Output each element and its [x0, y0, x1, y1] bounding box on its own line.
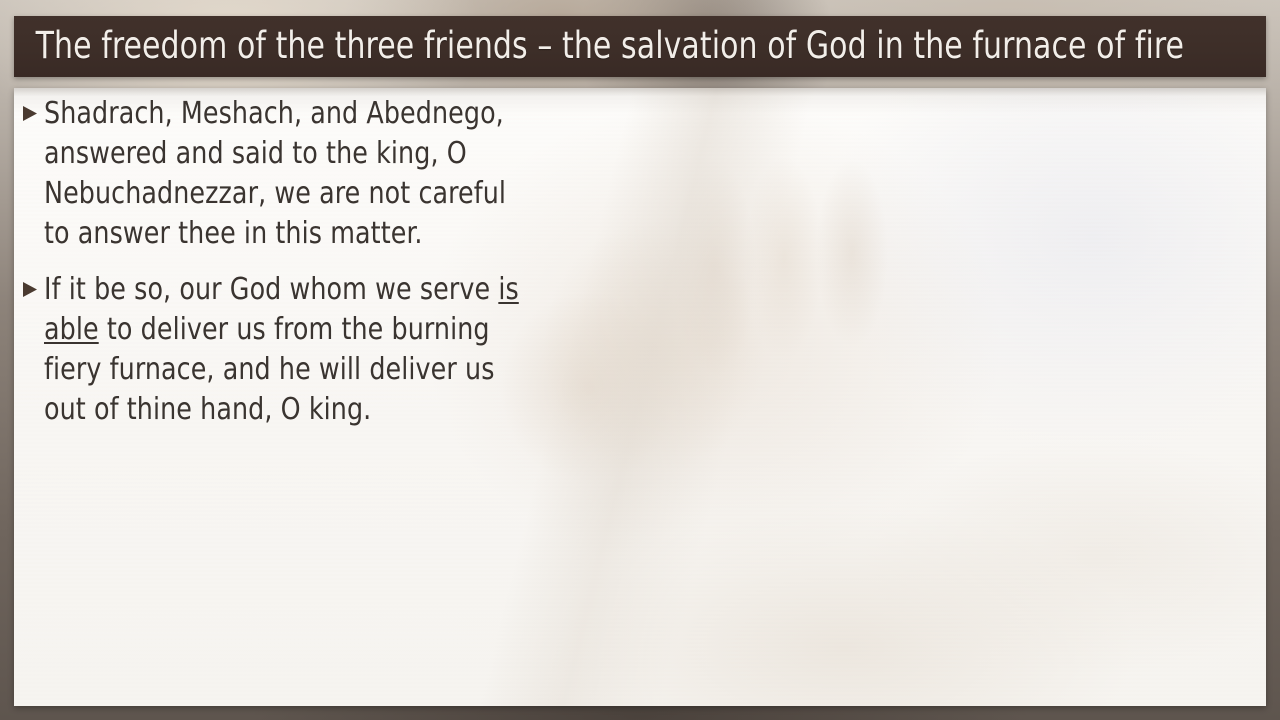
slide-body-text: Shadrach, Meshach, and Abednego, answere… — [22, 94, 562, 446]
triangle-right-bullet-icon — [22, 94, 44, 122]
bullet-item: If it be so, our God whom we serve is ab… — [22, 270, 562, 430]
bullet-text: If it be so, our God whom we serve is ab… — [44, 270, 531, 430]
slide-stage: The freedom of the three friends – the s… — [0, 0, 1280, 720]
triangle-right-bullet-icon — [22, 270, 44, 298]
bullet-text: Shadrach, Meshach, and Abednego, answere… — [44, 94, 531, 254]
slide-title-bar: The freedom of the three friends – the s… — [14, 16, 1266, 77]
slide-content-panel: Shadrach, Meshach, and Abednego, answere… — [14, 88, 1266, 706]
bullet-item: Shadrach, Meshach, and Abednego, answere… — [22, 94, 562, 254]
slide-title: The freedom of the three friends – the s… — [14, 27, 1200, 66]
